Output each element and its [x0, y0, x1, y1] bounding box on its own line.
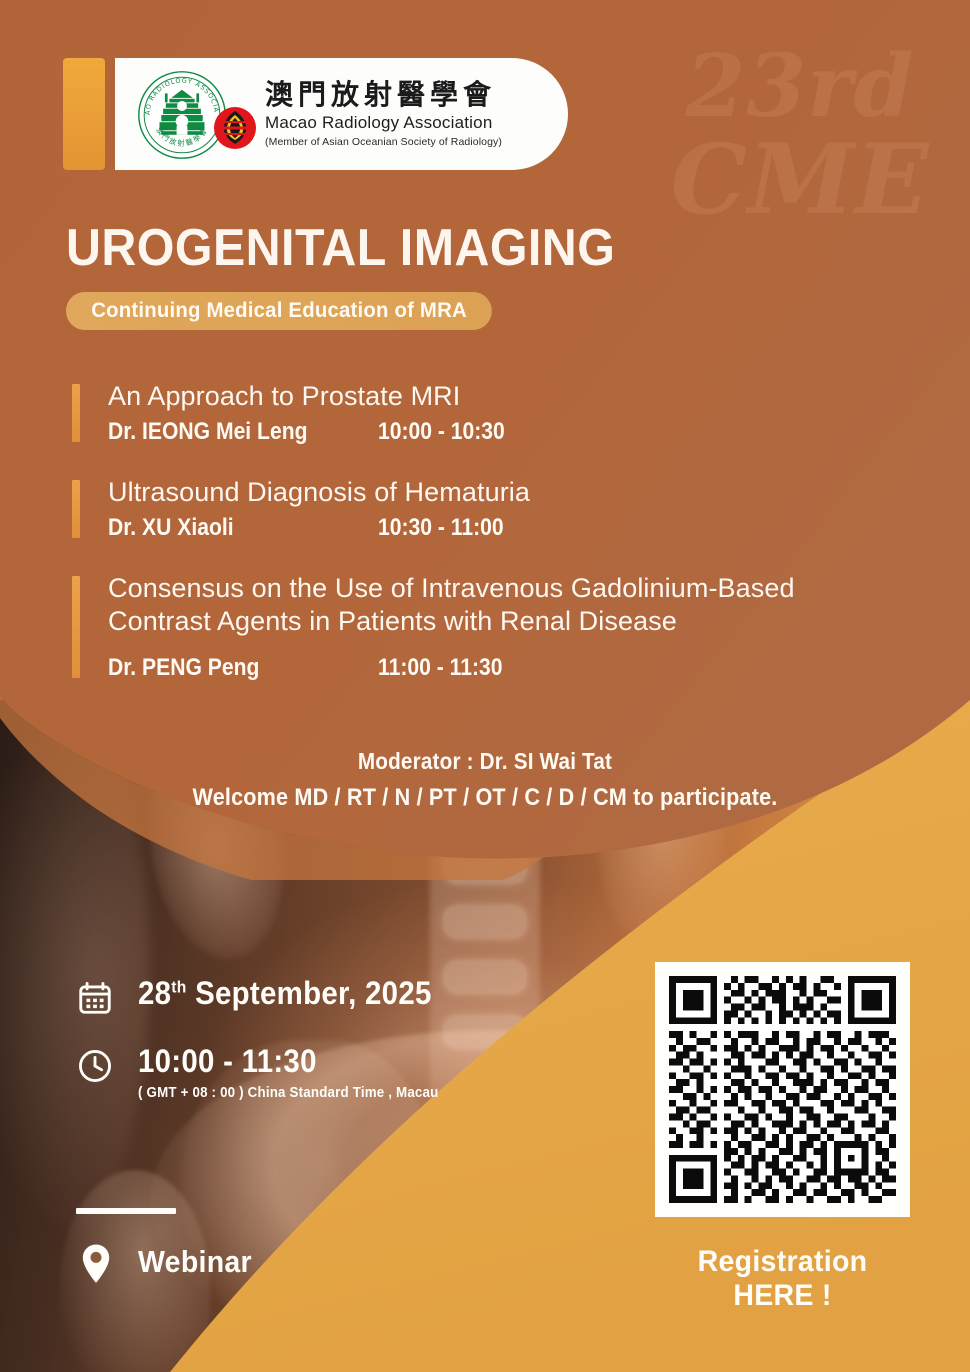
event-date-day: 28 — [138, 975, 171, 1011]
logo-orange-tab — [63, 58, 105, 170]
event-details: 28th September, 2025 10:00 - 11:30 ( GMT… — [76, 975, 546, 1127]
session-speaker: Dr. PENG Peng — [108, 654, 346, 682]
session-speaker: Dr. IEONG Mei Leng — [108, 418, 346, 446]
registration-panel[interactable]: Registration HERE ! — [655, 962, 910, 1313]
session-speaker: Dr. XU Xiaoli — [108, 514, 346, 542]
poster-subtitle-pill: Continuing Medical Education of MRA — [66, 292, 492, 330]
session-item: Consensus on the Use of Intravenous Gado… — [68, 572, 868, 682]
date-row: 28th September, 2025 — [76, 975, 546, 1017]
event-timezone: ( GMT + 08 : 00 ) China Standard Time , … — [138, 1085, 513, 1101]
session-title: An Approach to Prostate MRI — [108, 380, 868, 413]
time-row: 10:00 - 11:30 ( GMT + 08 : 00 ) China St… — [76, 1043, 546, 1101]
event-date: 28th September, 2025 — [138, 975, 513, 1012]
session-accent-bar — [72, 480, 80, 538]
session-title: Ultrasound Diagnosis of Hematuria — [108, 476, 868, 509]
moderator-name: Moderator : Dr. SI Wai Tat — [49, 748, 922, 775]
session-item: An Approach to Prostate MRI Dr. IEONG Me… — [68, 380, 868, 446]
org-member-note: (Member of Asian Oceanian Society of Rad… — [265, 136, 568, 148]
session-accent-bar — [72, 576, 80, 678]
session-time: 10:00 - 10:30 — [378, 418, 505, 446]
calendar-icon — [76, 979, 114, 1017]
org-name-chinese: 澳門放射醫學會 — [265, 80, 568, 111]
event-time: 10:00 - 11:30 — [138, 1043, 513, 1080]
qr-code-box[interactable] — [655, 962, 910, 1217]
location-pin-icon — [76, 1242, 116, 1286]
welcome-note: Welcome MD / RT / N / PT / OT / C / D / … — [49, 784, 922, 812]
event-poster: 23rd CME MACAO RADIOLOGY ASSOCIATION 澳門放… — [0, 0, 970, 1372]
association-logo-bar: MACAO RADIOLOGY ASSOCIATION 澳門放射醫學會 — [63, 58, 568, 170]
org-name-english: Macao Radiology Association — [265, 113, 568, 133]
session-time: 10:30 - 11:00 — [378, 514, 504, 542]
clock-icon — [76, 1047, 114, 1085]
event-date-ordinal: th — [171, 977, 186, 996]
poster-title: UROGENITAL IMAGING — [66, 218, 615, 278]
session-accent-bar — [72, 384, 80, 442]
registration-label[interactable]: Registration HERE ! — [661, 1245, 903, 1313]
qr-code-icon[interactable] — [669, 976, 896, 1203]
event-date-rest: September, 2025 — [187, 975, 432, 1011]
session-title: Consensus on the Use of Intravenous Gado… — [108, 572, 868, 638]
section-divider — [76, 1208, 176, 1214]
session-list: An Approach to Prostate MRI Dr. IEONG Me… — [68, 380, 868, 712]
logo-white-plate: MACAO RADIOLOGY ASSOCIATION 澳門放射醫學會 — [115, 58, 568, 170]
session-item: Ultrasound Diagnosis of Hematuria Dr. XU… — [68, 476, 868, 542]
moderator-block: Moderator : Dr. SI Wai Tat Welcome MD / … — [0, 748, 970, 812]
venue-name: Webinar — [138, 1244, 252, 1280]
venue-row: Webinar — [76, 1238, 262, 1286]
aosr-emblem-icon — [213, 106, 257, 150]
session-time: 11:00 - 11:30 — [378, 654, 502, 682]
